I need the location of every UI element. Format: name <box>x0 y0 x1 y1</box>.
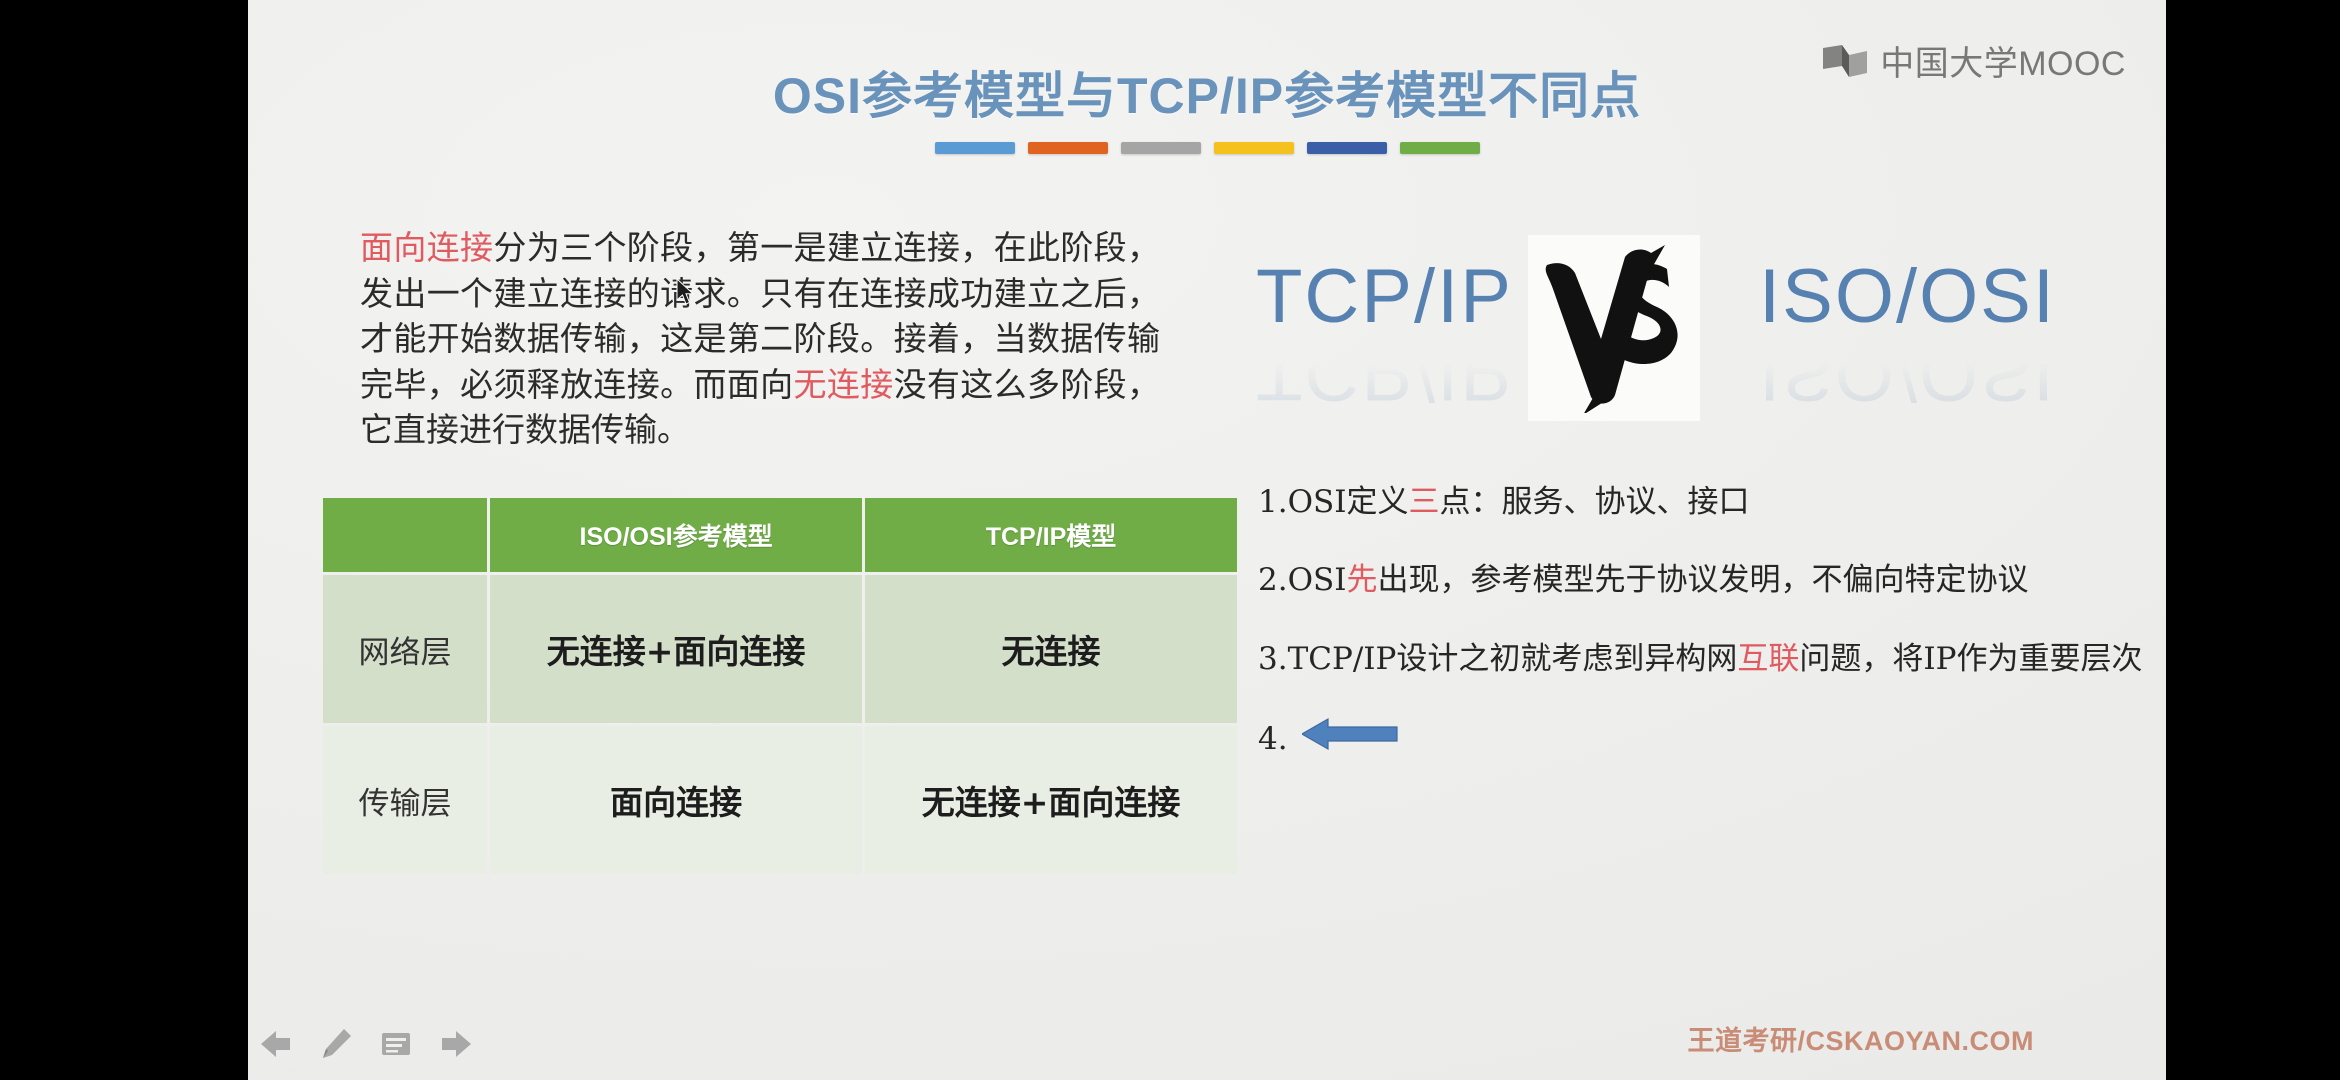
vs-glyph-icon <box>1528 235 1700 421</box>
vs-right-label: ISO/OSI ISO/OSI <box>1759 253 2056 417</box>
list-item: 1.OSI定义三点：服务、协议、接口 <box>1258 482 2158 522</box>
video-player-stage: 中国大学MOOC OSI参考模型与TCP/IP参考模型不同点 面向连接分为三个阶… <box>0 0 2340 1080</box>
rule-segment-4 <box>1214 142 1294 154</box>
table-cell-transport-tcpip: 无连接+面向连接 <box>865 726 1237 874</box>
slide-canvas: 中国大学MOOC OSI参考模型与TCP/IP参考模型不同点 面向连接分为三个阶… <box>248 0 2166 1080</box>
slide-nav-toolbar[interactable] <box>258 1026 474 1062</box>
title-block: OSI参考模型与TCP/IP参考模型不同点 <box>248 56 2166 154</box>
point-1-pre: OSI定义 <box>1288 484 1409 520</box>
point-2-highlight: 先 <box>1346 562 1377 598</box>
key-points-list: 1.OSI定义三点：服务、协议、接口 2.OSI先出现，参考模型先于协议发明，不… <box>1258 482 2158 761</box>
table-header-row: ISO/OSI参考模型 TCP/IP模型 <box>323 498 1237 572</box>
point-3-pre: TCP/IP设计之初就考虑到异构网 <box>1288 641 1738 677</box>
table-row-label-transport: 传输层 <box>323 726 487 874</box>
letterbox-left <box>0 0 248 1080</box>
rule-segment-6 <box>1400 142 1480 154</box>
point-3-highlight: 互联 <box>1737 641 1799 677</box>
point-3-post: 问题，将IP作为重要层次 <box>1799 641 2142 677</box>
list-item: 4. <box>1258 717 2158 761</box>
vs-right-text: ISO/OSI <box>1759 254 2056 339</box>
table-header-corner <box>323 498 487 572</box>
list-item: 2.OSI先出现，参考模型先于协议发明，不偏向特定协议 <box>1258 560 2158 600</box>
table-row: 网络层 无连接+面向连接 无连接 <box>323 575 1237 723</box>
table-cell-network-tcpip: 无连接 <box>865 575 1237 723</box>
point-1-highlight: 三 <box>1408 484 1439 520</box>
point-1-post: 点：服务、协议、接口 <box>1439 484 1749 520</box>
point-1-number: 1. <box>1258 484 1288 520</box>
vs-left-label: TCP/IP TCP/IP <box>1256 253 1513 417</box>
explanation-paragraph: 面向连接分为三个阶段，第一是建立连接，在此阶段，发出一个建立连接的请求。只有在连… <box>360 225 1160 453</box>
table-cell-transport-osi: 面向连接 <box>490 726 862 874</box>
notes-icon[interactable] <box>378 1026 414 1062</box>
table-header-tcpip: TCP/IP模型 <box>865 498 1237 572</box>
rule-segment-5 <box>1307 142 1387 154</box>
vs-banner-image: TCP/IP TCP/IP ISO/OSI ISO/OSI <box>1256 245 2056 435</box>
table-row: 传输层 面向连接 无连接+面向连接 <box>323 726 1237 874</box>
pencil-icon[interactable] <box>318 1026 354 1062</box>
table-header-osi: ISO/OSI参考模型 <box>490 498 862 572</box>
point-4-number: 4. <box>1258 719 1288 759</box>
comparison-table: ISO/OSI参考模型 TCP/IP模型 网络层 无连接+面向连接 无连接 传输… <box>320 495 1240 877</box>
paragraph-highlight-1: 面向连接 <box>360 228 493 267</box>
watermark: 王道考研/CSKAOYAN.COM <box>1687 1019 2034 1058</box>
next-arrow-icon[interactable] <box>438 1026 474 1062</box>
title-rule <box>248 142 2166 154</box>
rule-segment-1 <box>935 142 1015 154</box>
paragraph-highlight-2: 无连接 <box>794 365 894 404</box>
vs-left-text: TCP/IP <box>1256 254 1513 339</box>
page-title: OSI参考模型与TCP/IP参考模型不同点 <box>248 56 2166 128</box>
left-arrow-icon <box>1302 717 1398 761</box>
list-item: 3.TCP/IP设计之初就考虑到异构网互联问题，将IP作为重要层次 <box>1258 639 2158 679</box>
table-cell-network-osi: 无连接+面向连接 <box>490 575 862 723</box>
point-2-pre: OSI <box>1288 562 1347 598</box>
letterbox-right <box>2166 0 2340 1080</box>
point-2-number: 2. <box>1258 562 1288 598</box>
prev-arrow-icon[interactable] <box>258 1026 294 1062</box>
point-3-number: 3. <box>1258 641 1288 677</box>
point-2-post: 出现，参考模型先于协议发明，不偏向特定协议 <box>1377 562 2028 598</box>
vs-right-reflection: ISO/OSI <box>1759 330 2056 417</box>
vs-left-reflection: TCP/IP <box>1256 330 1513 417</box>
rule-segment-2 <box>1028 142 1108 154</box>
table-row-label-network: 网络层 <box>323 575 487 723</box>
rule-segment-3 <box>1121 142 1201 154</box>
